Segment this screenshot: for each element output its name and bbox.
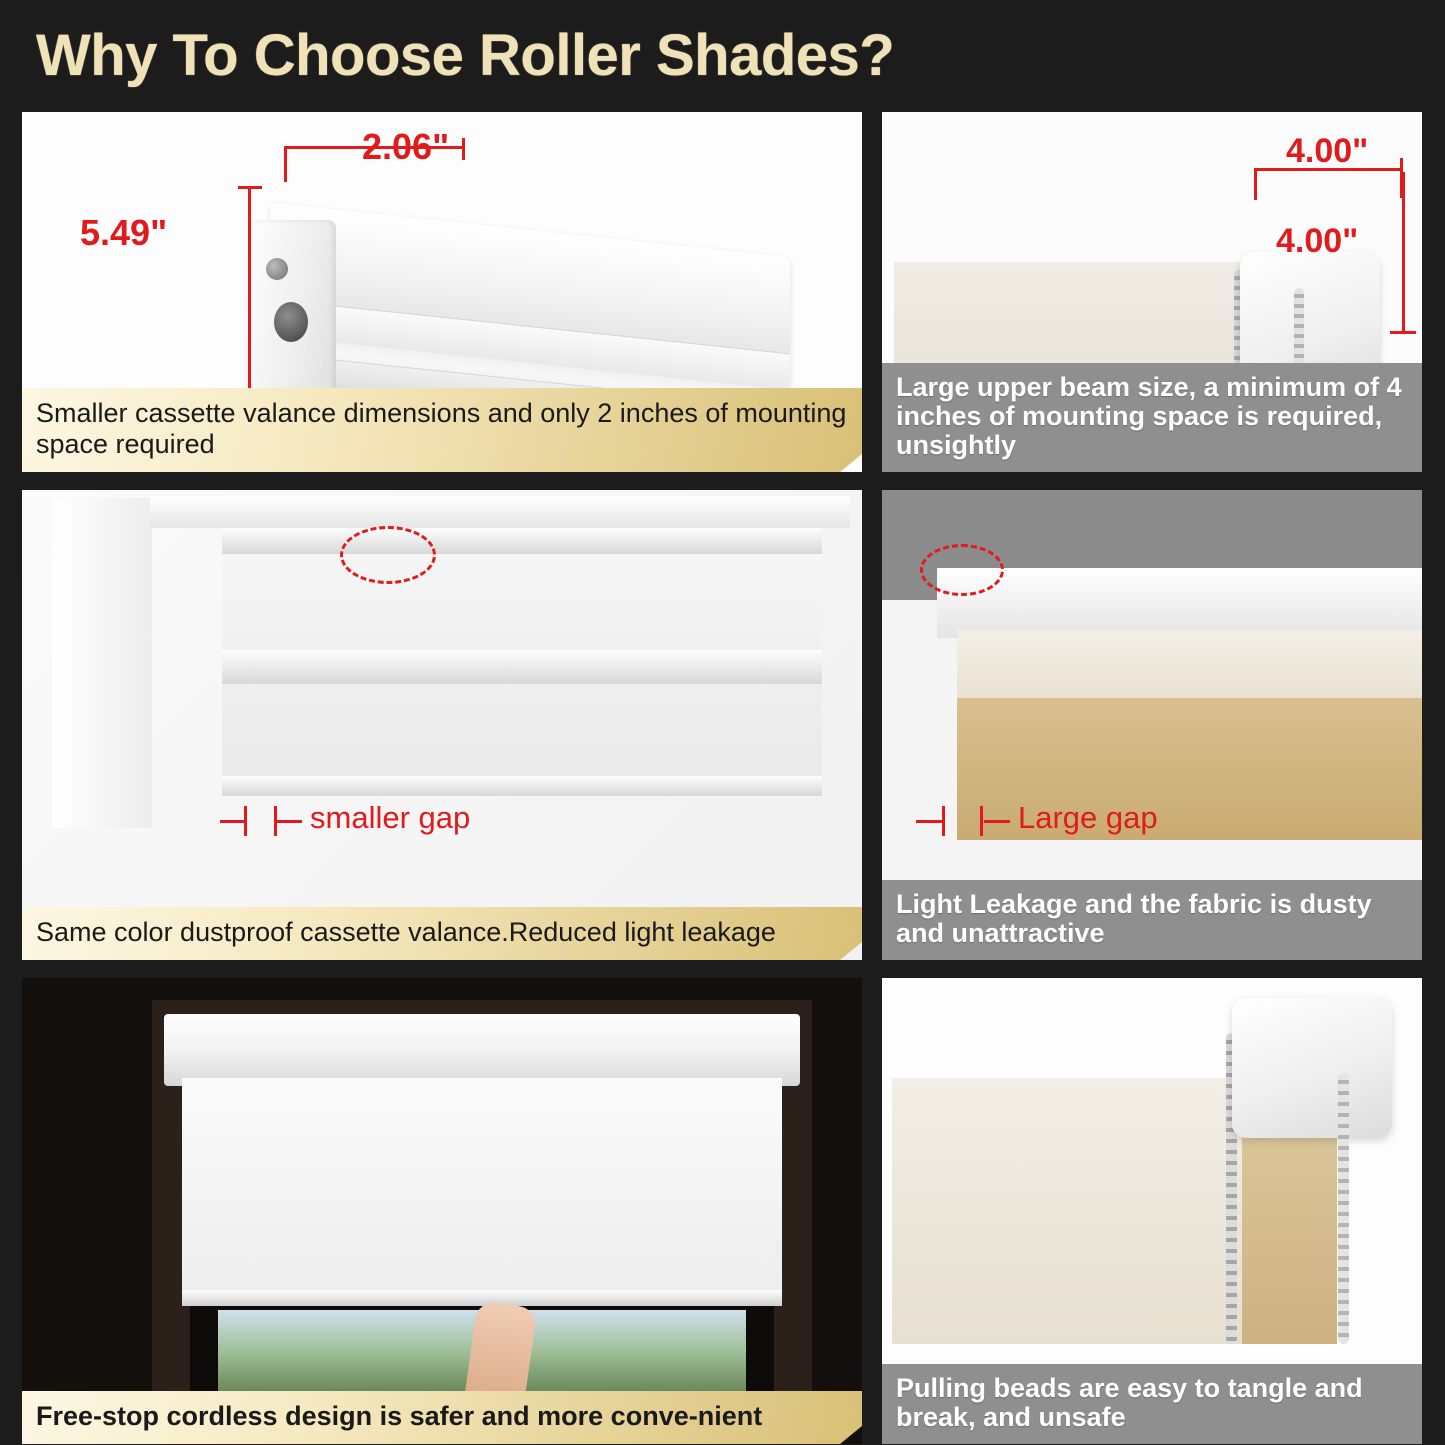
dim-width-label: 4.00" xyxy=(1286,132,1368,171)
cassette-rail-top xyxy=(222,528,822,554)
dim-line-height xyxy=(1402,172,1405,334)
dim-tick-h-bottom xyxy=(1390,331,1416,334)
panel-caption-large-upper-beam: Large upper beam size, a minimum of 4 in… xyxy=(882,363,1422,472)
dim-tick-right xyxy=(462,138,465,160)
infographic-page: Why To Choose Roller Shades? 2.06" xyxy=(0,0,1445,1445)
panel-cordless-design: Free-stop cordless design is safer and m… xyxy=(22,978,862,1444)
highlight-ellipse xyxy=(340,526,436,584)
gap-arrow-left xyxy=(220,820,246,823)
panel-pulling-beads: Pulling beads are easy to tangle and bre… xyxy=(882,978,1422,1444)
panel-cassette-dimensions: 2.06" 5.49" Smaller cassette valance dim… xyxy=(22,112,862,472)
shade-fabric-white xyxy=(892,1078,1242,1344)
roller-beam-body xyxy=(1232,998,1392,1138)
dim-height-label: 5.49" xyxy=(80,212,167,254)
bracket-hole xyxy=(274,302,308,342)
panel-caption-pulling-beads: Pulling beads are easy to tangle and bre… xyxy=(882,1364,1422,1444)
gap-tick-right xyxy=(980,806,983,836)
panel-caption-smaller-gap: Same color dustproof cassette valance.Re… xyxy=(22,907,862,960)
gap-label: Large gap xyxy=(1018,800,1158,836)
dim-width-label: 2.06" xyxy=(362,126,449,168)
panel-caption-cassette-dimensions: Smaller cassette valance dimensions and … xyxy=(22,388,862,472)
shade-panel xyxy=(182,1078,782,1296)
photo-smaller-gap: smaller gap xyxy=(22,490,862,960)
gap-arrow-right xyxy=(984,820,1010,823)
roller-valance xyxy=(937,568,1422,638)
panel-caption-large-gap: Light Leakage and the fabric is dusty an… xyxy=(882,880,1422,960)
panel-caption-cordless-design: Free-stop cordless design is safer and m… xyxy=(22,1391,862,1444)
dim-line-height xyxy=(248,186,251,412)
panel-smaller-gap: smaller gap Same color dustproof cassett… xyxy=(22,490,862,960)
panel-large-gap: Large gap Light Leakage and the fabric i… xyxy=(882,490,1422,960)
shade-fabric-tan xyxy=(1242,1108,1337,1344)
shade-fabric-white xyxy=(957,630,1422,700)
bottom-rail xyxy=(222,776,822,796)
dim-tick-h-top xyxy=(238,186,262,189)
gap-arrow-right xyxy=(276,820,302,823)
gap-tick-left xyxy=(942,806,945,836)
panel-large-upper-beam: 4.00" 4.00" Large upper beam size, a min… xyxy=(882,112,1422,472)
screw-top-icon xyxy=(266,258,288,280)
mid-rail xyxy=(222,650,822,684)
gap-arrow-left xyxy=(916,820,942,823)
bead-chain-right xyxy=(1338,1073,1349,1344)
dim-height-label: 4.00" xyxy=(1276,222,1358,261)
window-header-trim xyxy=(150,496,850,528)
dim-tick-left xyxy=(284,148,287,182)
gap-label: smaller gap xyxy=(310,800,470,836)
highlight-ellipse xyxy=(920,544,1004,596)
cassette-valance xyxy=(164,1014,800,1086)
bottom-rail xyxy=(182,1290,782,1306)
dim-tick-left xyxy=(1254,170,1257,200)
photo-cordless-room xyxy=(22,978,862,1444)
page-title: Why To Choose Roller Shades? xyxy=(36,22,894,89)
